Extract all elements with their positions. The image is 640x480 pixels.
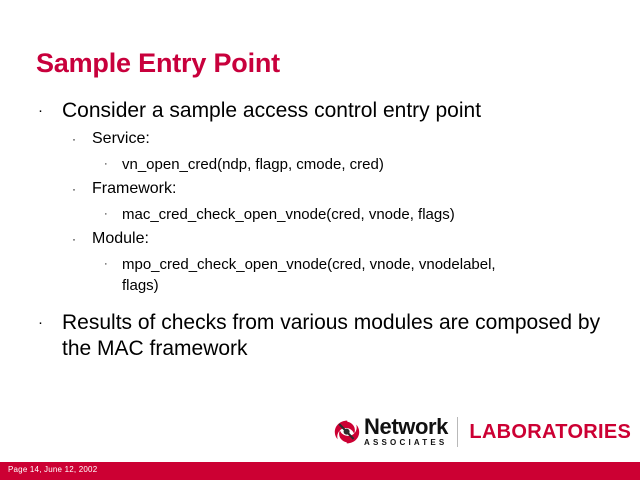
- logo-brand-network: Network: [364, 417, 448, 437]
- bullet-marker-icon: ·: [38, 98, 62, 124]
- bullet-item-level3-framework-call: · mac_cred_check_open_vnode(cred, vnode,…: [0, 204, 640, 225]
- bullet-marker-icon: ·: [104, 204, 122, 225]
- bullet-text: Service:: [92, 128, 640, 150]
- bullet-item-level1: · Consider a sample access control entry…: [0, 98, 640, 124]
- bullet-item-level1-results: · Results of checks from various modules…: [0, 310, 640, 362]
- slide-canvas: Sample Entry Point · Consider a sample a…: [0, 0, 640, 480]
- bullet-text: vn_open_cred(ndp, flagp, cmode, cred): [122, 154, 522, 175]
- logo-divider: [457, 417, 458, 447]
- logo-brand-associates: ASSOCIATES: [364, 437, 448, 448]
- bullet-marker-icon: ·: [72, 128, 92, 150]
- bullet-item-level2-framework: · Framework:: [0, 178, 640, 200]
- bullet-item-level2-module: · Module:: [0, 228, 640, 250]
- bullet-item-level2-service: · Service:: [0, 128, 640, 150]
- bullet-text: Consider a sample access control entry p…: [62, 98, 622, 124]
- bullet-item-level3-module-call: · mpo_cred_check_open_vnode(cred, vnode,…: [0, 254, 640, 296]
- bullet-marker-icon: ·: [104, 254, 122, 275]
- footer-page-and-date: Page 14, June 12, 2002: [8, 465, 97, 474]
- slide-body: · Consider a sample access control entry…: [0, 98, 640, 366]
- bullet-marker-icon: ·: [72, 178, 92, 200]
- network-associates-swoosh-icon: [334, 420, 360, 444]
- bullet-marker-icon: ·: [38, 310, 62, 336]
- network-associates-laboratories-logo: Network ASSOCIATES LABORATORIES: [334, 414, 631, 450]
- footer-bar: Page 14, June 12, 2002: [0, 462, 640, 480]
- body-spacer: [0, 296, 640, 310]
- bullet-text: Framework:: [92, 178, 640, 200]
- page-title: Sample Entry Point: [36, 48, 280, 79]
- bullet-marker-icon: ·: [72, 228, 92, 250]
- bullet-text: Results of checks from various modules a…: [62, 310, 622, 362]
- bullet-item-level3-service-call: · vn_open_cred(ndp, flagp, cmode, cred): [0, 154, 640, 175]
- bullet-marker-icon: ·: [104, 154, 122, 175]
- bullet-text: mac_cred_check_open_vnode(cred, vnode, f…: [122, 204, 522, 225]
- bullet-text: mpo_cred_check_open_vnode(cred, vnode, v…: [122, 254, 522, 296]
- logo-division-laboratories: LABORATORIES: [469, 422, 631, 442]
- bullet-text: Module:: [92, 228, 640, 250]
- network-associates-wordmark: Network ASSOCIATES: [364, 417, 448, 448]
